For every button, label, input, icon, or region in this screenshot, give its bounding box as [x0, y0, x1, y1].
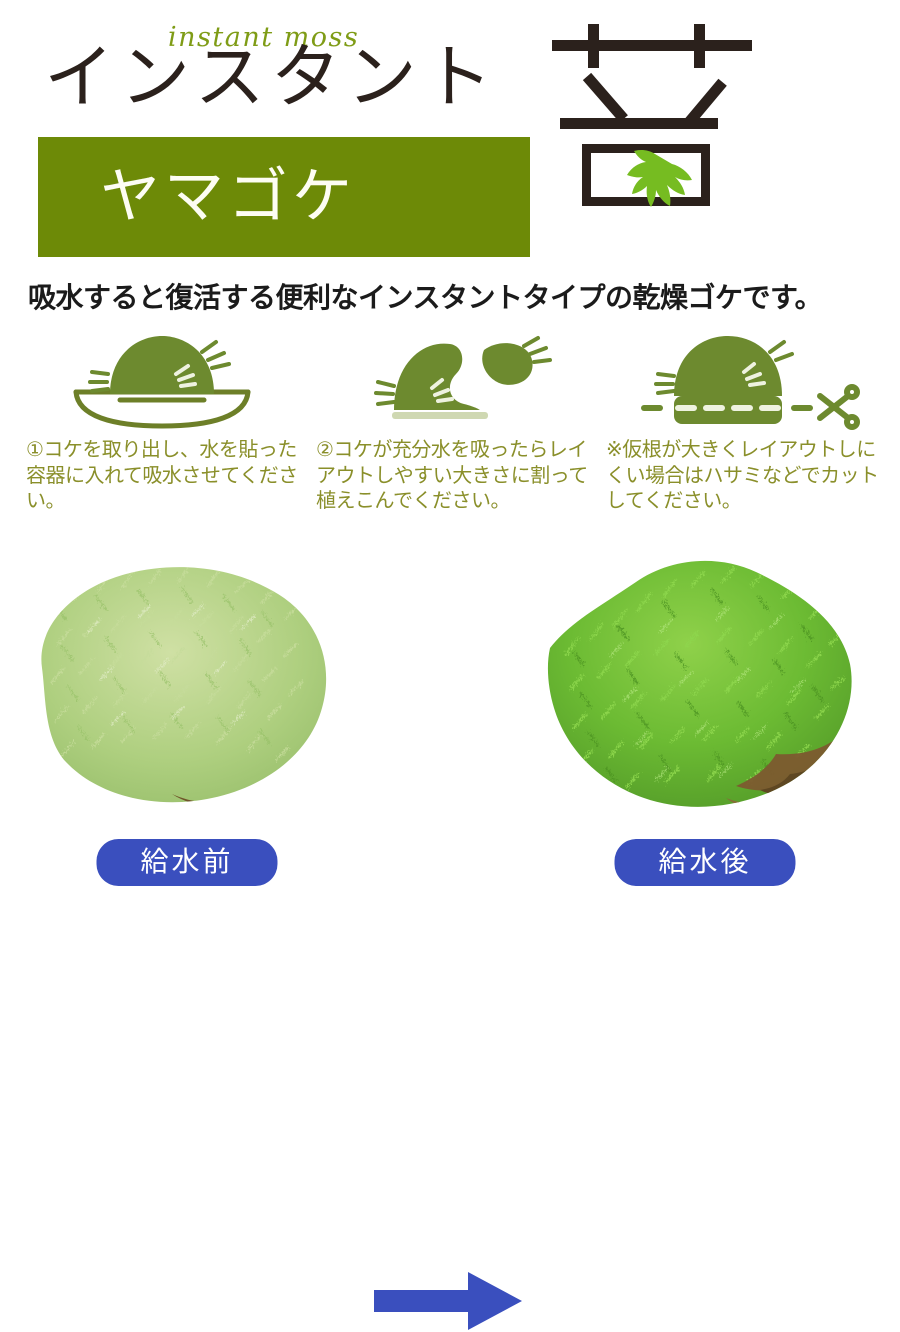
after-photo-block: 給水後: [540, 548, 870, 888]
page-title: インスタント: [44, 42, 499, 112]
product-infographic: instant moss インスタント: [0, 0, 900, 900]
step-2-text: ②コケが充分水を吸ったらレイアウトしやすい大きさに割って植えこんでください。: [312, 438, 592, 515]
before-label: 給水前: [96, 839, 277, 886]
step-3: ※仮根が大きくレイアウトしにくい場合はハサミなどでカットしてください。: [602, 330, 882, 515]
lead-description: 吸水すると復活する便利なインスタントタイプの乾燥ゴケです。: [28, 276, 878, 316]
moss-in-dish-icon: [42, 330, 282, 430]
hydrated-moss-photo: [540, 548, 870, 823]
step-3-text: ※仮根が大きくレイアウトしにくい場合はハサミなどでカットしてください。: [602, 438, 882, 515]
step-2: ②コケが充分水を吸ったらレイアウトしやすい大きさに割って植えこんでください。: [312, 330, 592, 515]
product-name-label: ヤマゴケ: [38, 167, 356, 227]
comparison-section: 給水前: [0, 548, 900, 888]
moss-split-icon: [332, 330, 572, 430]
moss-cut-scissors-icon: [622, 330, 862, 430]
instruction-steps: ①コケを取り出し、水を貼った容器に入れて吸水させてください。: [22, 330, 884, 515]
kanji-moss-logo: [548, 18, 824, 266]
before-photo-block: 給水前: [22, 548, 352, 888]
step-1-text: ①コケを取り出し、水を貼った容器に入れて吸水させてください。: [22, 438, 302, 515]
right-arrow-icon: [372, 1270, 524, 1332]
product-name-banner: ヤマゴケ: [38, 137, 530, 257]
after-label: 給水後: [614, 839, 795, 886]
dry-moss-photo: [22, 548, 352, 823]
step-1: ①コケを取り出し、水を貼った容器に入れて吸水させてください。: [22, 330, 302, 515]
